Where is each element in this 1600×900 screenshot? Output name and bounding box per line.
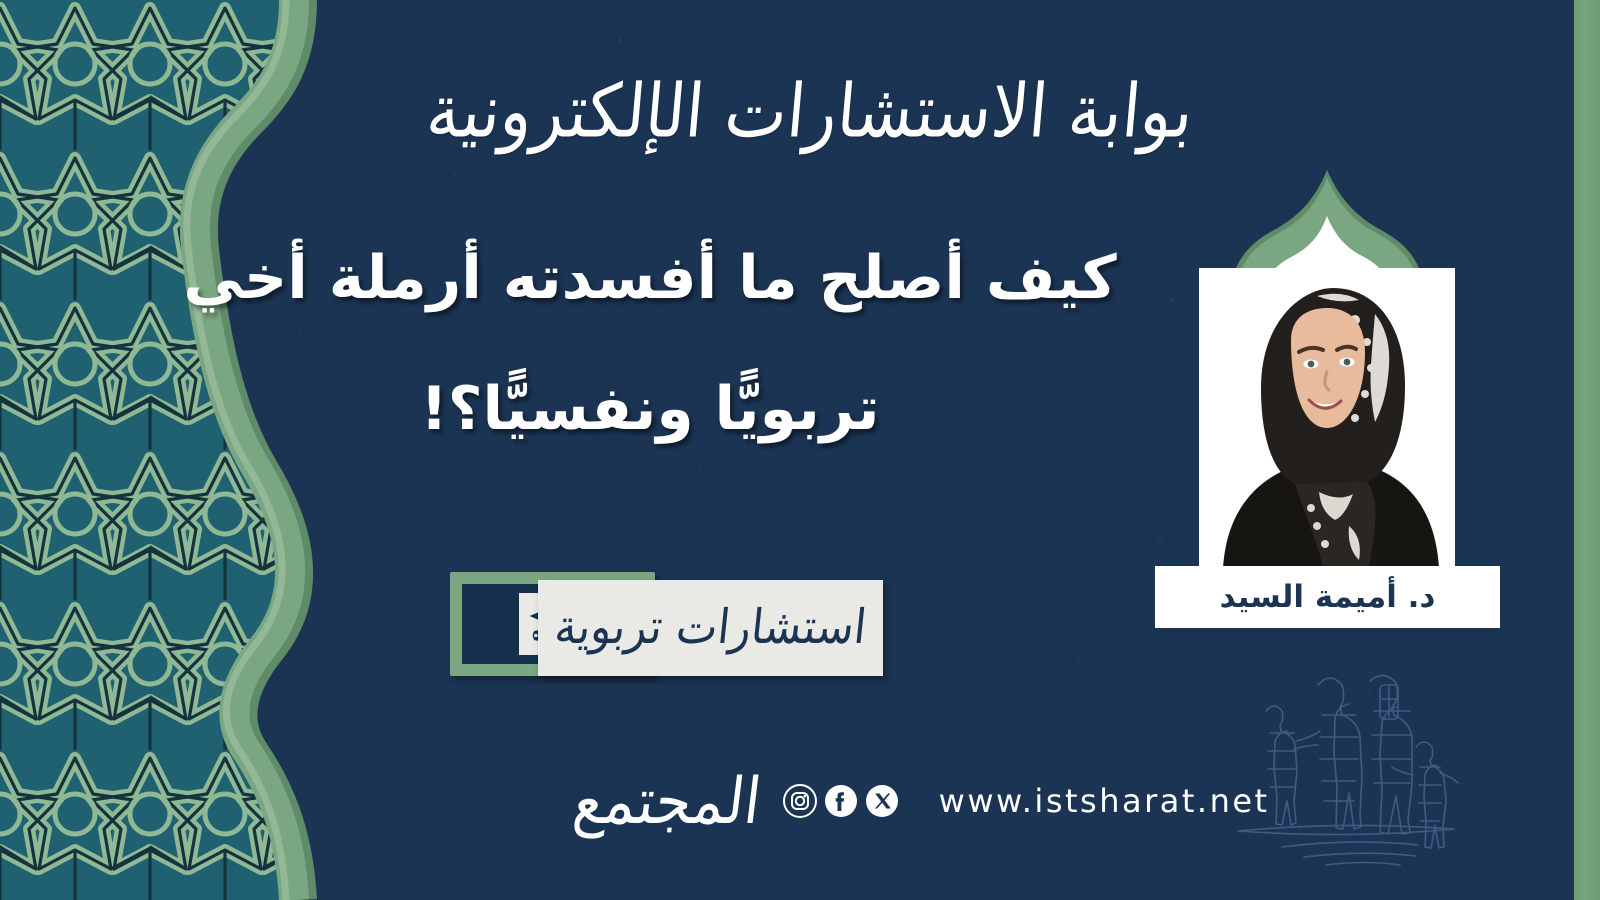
instagram-icon[interactable] <box>783 784 817 818</box>
facebook-icon[interactable] <box>824 784 858 818</box>
expert-name: د. أميمة السيد <box>1220 579 1436 615</box>
portal-title-calligraphy: بوابة الاستشارات الإلكترونية <box>470 42 1150 182</box>
expert-nameplate: د. أميمة السيد <box>1155 566 1500 628</box>
x-icon[interactable] <box>865 784 899 818</box>
right-edge-stripe <box>1574 0 1600 900</box>
page-title-line-1: كيف أصلح ما أفسدته أرملة أخي <box>150 235 1150 322</box>
page-title: كيف أصلح ما أفسدته أرملة أخي تربويًّا ون… <box>150 235 1150 453</box>
social-card-canvas: بوابة الاستشارات الإلكترونية كيف أصلح ما… <box>0 0 1600 900</box>
portal-title-text: بوابة الاستشارات الإلكترونية <box>423 66 1197 158</box>
category-badge-label: استشارات تربوية <box>552 604 868 652</box>
expert-photo <box>1199 268 1455 568</box>
footer-bar: المجتمع <box>570 748 1270 854</box>
magazine-logo: المجتمع <box>570 769 765 833</box>
category-badge-plate: استشارات تربوية <box>538 580 883 676</box>
website-url[interactable]: www.istsharat.net <box>939 782 1270 820</box>
page-title-line-2: تربويًّا ونفسيًّا؟! <box>150 366 1150 453</box>
expert-card: د. أميمة السيد <box>1155 168 1500 636</box>
social-links <box>783 784 899 818</box>
